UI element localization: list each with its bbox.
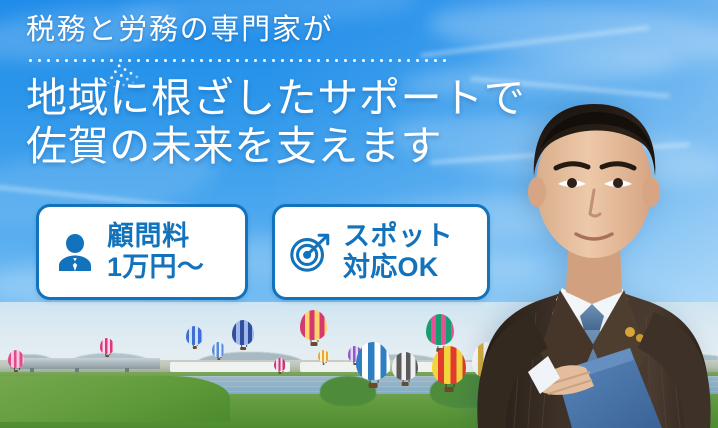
hero-banner: 税務と労務の専門家が 地域に根ざしたサポートで 佐賀の未来を支えます 顧問料 1… (0, 0, 718, 428)
dotted-divider-line (26, 59, 450, 62)
hot-air-balloon (274, 358, 286, 374)
hot-air-balloon (232, 320, 254, 350)
hot-air-balloon (300, 310, 327, 346)
left-grass-bank (0, 376, 230, 422)
portrait-businessman (444, 0, 718, 428)
festival-tents (170, 362, 290, 372)
hot-air-balloon (356, 342, 390, 388)
balloon-envelope (356, 342, 390, 380)
balloon-basket (369, 383, 378, 388)
balloon-basket (322, 363, 325, 365)
balloon-envelope (274, 358, 286, 371)
balloon-envelope (232, 320, 254, 345)
hot-air-balloon (186, 326, 203, 349)
balloon-basket (192, 346, 196, 349)
balloon-basket (240, 347, 246, 350)
balloon-envelope (100, 338, 114, 354)
balloon-envelope (300, 310, 327, 340)
balloon-envelope (212, 342, 225, 357)
balloon-basket (105, 355, 109, 357)
balloon-basket (310, 342, 317, 346)
badge-advisory-fee-line-2: 1万円〜 (107, 252, 204, 283)
balloon-envelope (392, 352, 418, 380)
balloon-basket (278, 372, 281, 374)
badge-spot-support-line-1: スポット (343, 221, 453, 252)
balloon-basket (14, 370, 18, 372)
balloon-envelope (8, 350, 24, 368)
balloon-basket (217, 358, 220, 360)
businessman-icon (51, 228, 99, 276)
badge-spot-support-text: スポット 対応OK (343, 221, 453, 284)
badge-row: 顧問料 1万円〜 スポット 対応OK (36, 204, 490, 300)
hot-air-balloon (318, 350, 329, 365)
bridge (10, 358, 160, 369)
badge-advisory-fee-line-1: 顧問料 (107, 221, 204, 252)
balloon-envelope (186, 326, 203, 345)
balloon-envelope (318, 350, 329, 362)
hot-air-balloon (100, 338, 114, 357)
hot-air-balloon (8, 350, 24, 372)
hot-air-balloon (212, 342, 225, 360)
badge-spot-support-line-2: 対応OK (343, 252, 453, 283)
dotted-divider (26, 56, 450, 66)
target-arrow-icon (287, 229, 333, 275)
badge-advisory-fee[interactable]: 顧問料 1万円〜 (36, 204, 248, 300)
badge-advisory-fee-text: 顧問料 1万円〜 (107, 221, 204, 284)
balloon-basket (402, 382, 409, 386)
hot-air-balloon (392, 352, 418, 386)
